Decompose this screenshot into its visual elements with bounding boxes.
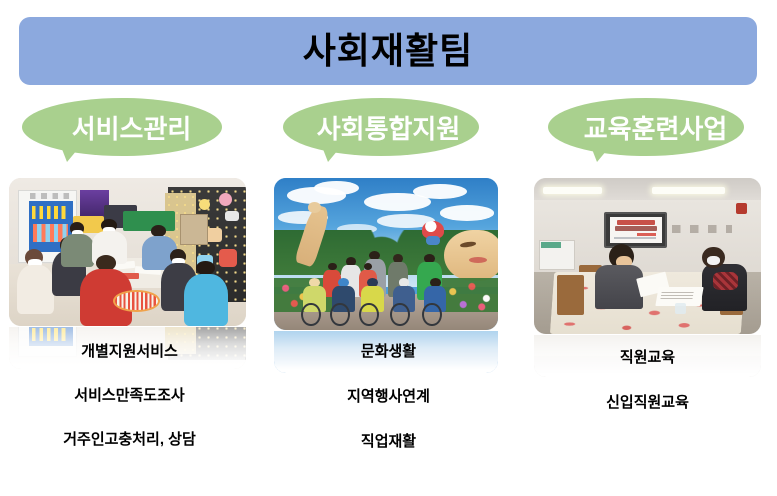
caption-list-2: 문화생활 지역행사연계 직업재활 — [259, 344, 518, 479]
caption-list-3: 직원교육 신입직원교육 — [518, 350, 777, 440]
caption-item: 서비스만족도조사 — [0, 388, 259, 403]
caption-item: 직업재활 — [259, 434, 518, 449]
column-social-integration: 사회통합지원 — [259, 92, 518, 496]
caption-item: 문화생활 — [259, 344, 518, 359]
column-heading-label: 서비스관리 — [0, 98, 261, 156]
heading-bubble-1[interactable]: 서비스관리 — [0, 92, 259, 170]
page-title: 사회재활팀 — [303, 33, 474, 69]
columns-container: 서비스관리 — [0, 92, 777, 496]
caption-item: 지역행사연계 — [259, 389, 518, 404]
outdoor-park-group-photo — [274, 178, 498, 330]
staff-training-meeting-photo — [534, 178, 761, 334]
slide-root: 사회재활팀 서비스관리 — [0, 0, 777, 496]
caption-list-1: 개별지원서비스 서비스만족도조사 거주인고충처리, 상담 — [0, 344, 259, 476]
heading-bubble-2[interactable]: 사회통합지원 — [259, 92, 518, 170]
column-heading-label: 교육훈련사업 — [518, 98, 777, 156]
wall-tv-screen — [604, 212, 667, 247]
column-education-training: 교육훈련사업 — [518, 92, 777, 496]
caption-item: 신입직원교육 — [518, 395, 777, 410]
indoor-group-activity-photo — [9, 178, 246, 326]
photo-block-1 — [9, 178, 246, 369]
caption-item: 개별지원서비스 — [0, 344, 259, 359]
title-banner: 사회재활팀 — [19, 17, 757, 85]
column-heading-label: 사회통합지원 — [259, 98, 518, 156]
caption-item: 거주인고충처리, 상담 — [0, 432, 259, 447]
photo-block-3 — [534, 178, 761, 377]
column-service-management: 서비스관리 — [0, 92, 259, 496]
heading-bubble-3[interactable]: 교육훈련사업 — [518, 92, 777, 170]
caption-item: 직원교육 — [518, 350, 777, 365]
